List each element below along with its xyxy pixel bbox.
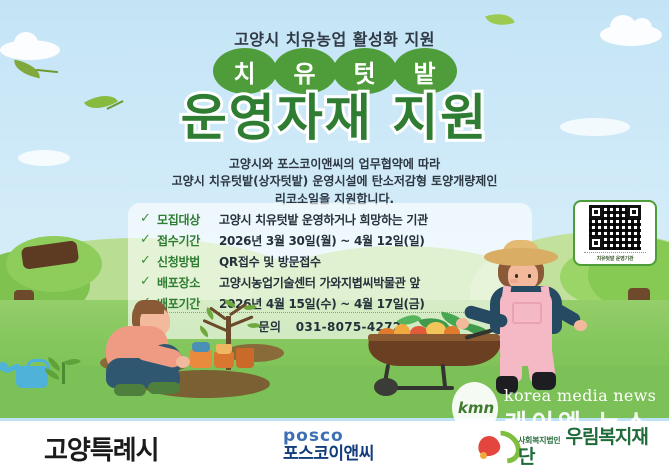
- info-row-label: 접수기간: [157, 232, 219, 249]
- title-pill: 밭: [393, 48, 457, 94]
- flower-pots-icon: [190, 334, 256, 370]
- check-icon: ✓: [140, 209, 157, 229]
- info-row-label: 배포장소: [157, 274, 219, 291]
- gardener-hair-front: [134, 300, 164, 314]
- farmer-hat-brim: [484, 248, 558, 266]
- posco-logo: posco 포스코이앤씨: [283, 428, 374, 465]
- sprout-stem: [62, 362, 65, 384]
- wheelbarrow-wheel: [374, 378, 398, 396]
- farmer-eye: [515, 274, 518, 278]
- farmer-cheek: [510, 279, 518, 283]
- woorim-logo-small: 사회복지법인: [518, 436, 560, 445]
- flower-pot: [190, 350, 212, 368]
- poster-description: 고양시와 포스코이앤씨의 업무협약에 따라 고양시 치유텃밭(상자텃밭) 운영시…: [0, 156, 669, 208]
- info-row-label: 모집대상: [157, 211, 219, 228]
- farmer-hand-left: [456, 318, 469, 329]
- poster-canvas: 고양시 치유농업 활성화 지원 치 유 텃 밭 운영자재 지원 고양시와 포스코…: [0, 0, 669, 466]
- title-pill-row: 치 유 텃 밭: [0, 48, 669, 94]
- watermark-badge: kmn: [456, 398, 496, 418]
- illustration-farmer: [470, 248, 598, 394]
- flower-pot: [236, 348, 254, 368]
- woorim-logo-big: 우림복지재단: [518, 426, 648, 466]
- farmer-hand-right: [574, 320, 587, 331]
- gardener-shoe: [148, 382, 180, 394]
- info-row: ✓ 모집대상 고양시 치유텃밭 운영하거나 희망하는 기관: [140, 209, 532, 229]
- watermark-english: korea media news: [504, 386, 669, 405]
- info-row-value: 고양시 치유텃밭 운영하거나 희망하는 기관: [219, 211, 532, 228]
- description-line: 고양시와 포스코이앤씨의 업무협약에 따라: [0, 156, 669, 173]
- page-title: 운영자재 지원: [0, 92, 669, 145]
- info-row-value: 2026년 3월 30일(월) ~ 4월 12일(일): [219, 232, 532, 249]
- dot-icon: [480, 452, 487, 459]
- goyang-city-logo: 고양특례시: [44, 430, 159, 466]
- farmer-eye: [528, 274, 531, 278]
- woorim-mark-icon: [478, 432, 512, 460]
- title-pill: 텃: [333, 48, 397, 94]
- info-row-label: 신청방법: [157, 253, 219, 270]
- poster-kicker: 고양시 치유농업 활성화 지원: [0, 26, 669, 50]
- sapling-leaf: [224, 299, 237, 308]
- check-icon: ✓: [140, 251, 157, 271]
- flower-pot: [214, 352, 234, 368]
- posco-logo-en: posco: [283, 428, 374, 445]
- flower-pot: [216, 344, 232, 354]
- farmer-pocket: [512, 302, 542, 324]
- flower-pot: [192, 342, 210, 352]
- qr-finder-icon: [627, 205, 641, 219]
- gardener-shoe: [114, 384, 146, 396]
- gardener-hand: [176, 356, 190, 368]
- sprout-leaf: [63, 355, 81, 370]
- woorim-logo-text: 사회복지법인 우림복지재단: [518, 428, 658, 466]
- check-icon: ✓: [140, 272, 157, 292]
- check-icon: ✓: [140, 230, 157, 250]
- title-pill: 유: [273, 48, 337, 94]
- sprout-icon: [44, 356, 84, 386]
- qr-code-icon[interactable]: [589, 205, 641, 250]
- woorim-foundation-logo: 사회복지법인 우림복지재단: [478, 426, 658, 464]
- title-pill: 치: [213, 48, 277, 94]
- description-line: 고양시 치유텃밭(상자텃밭) 운영시설에 탄소저감형 토양개량제인: [0, 173, 669, 190]
- sapling-leaf: [247, 320, 261, 331]
- posco-logo-kr: 포스코이앤씨: [283, 445, 374, 465]
- qr-finder-icon: [589, 205, 603, 219]
- info-row: ✓ 접수기간 2026년 3월 30일(월) ~ 4월 12일(일): [140, 230, 532, 250]
